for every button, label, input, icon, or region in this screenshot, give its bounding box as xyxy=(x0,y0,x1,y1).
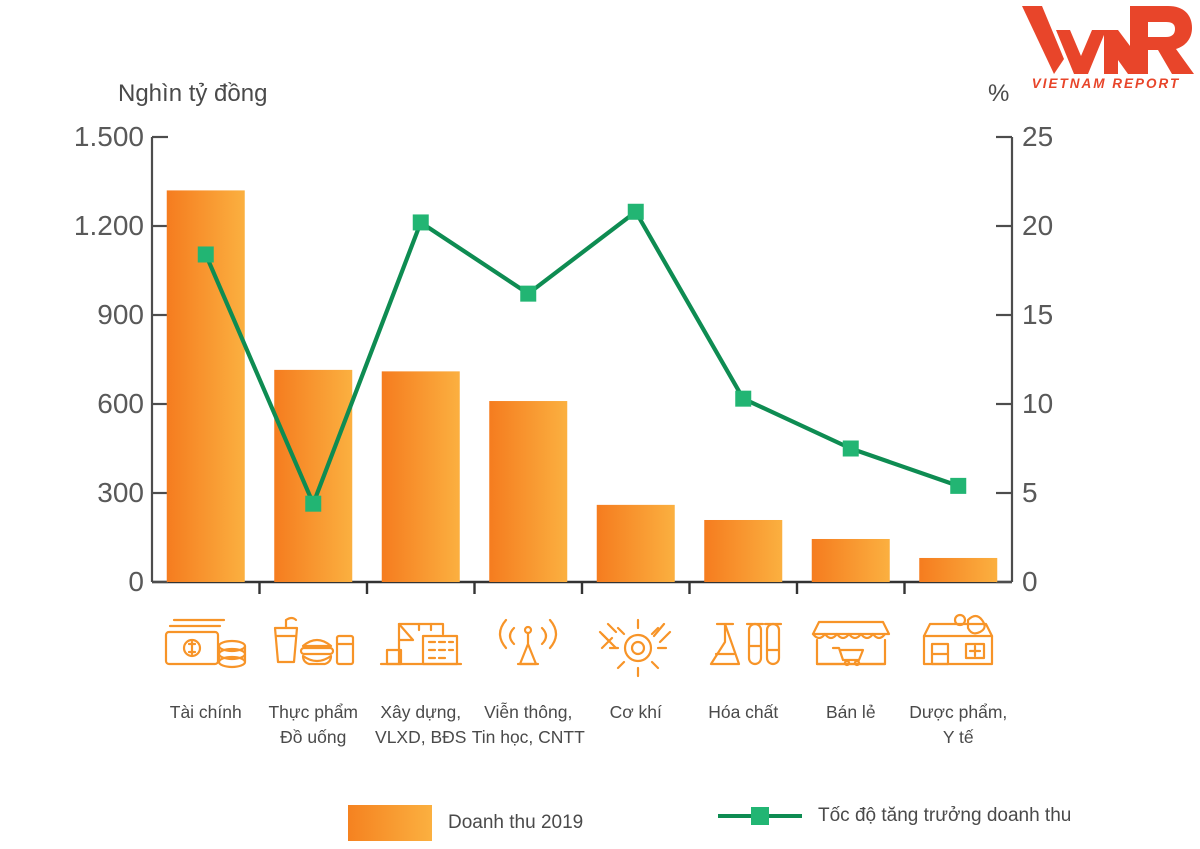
line-marker[interactable] xyxy=(628,204,644,220)
left-axis-tick-label: 900 xyxy=(97,299,144,331)
left-axis-tick-label: 0 xyxy=(128,566,144,598)
bar[interactable] xyxy=(274,370,352,582)
pharmacy-medicine-store-icon xyxy=(910,604,1006,684)
bar-series xyxy=(167,190,998,582)
line-marker[interactable] xyxy=(198,246,214,262)
bar[interactable] xyxy=(812,539,890,582)
money-cash-coins-icon xyxy=(158,604,254,684)
bar[interactable] xyxy=(489,401,567,582)
left-axis-tick-label: 1.200 xyxy=(74,210,144,242)
chemical-flask-tubes-icon xyxy=(695,604,791,684)
legend-bar-label: Doanh thu 2019 xyxy=(448,812,583,834)
category-label-line: Y tế xyxy=(892,725,1024,750)
right-axis-tick-label: 10 xyxy=(1022,388,1053,420)
line-marker[interactable] xyxy=(520,286,536,302)
right-axis-tick-label: 25 xyxy=(1022,121,1053,153)
line-marker[interactable] xyxy=(735,391,751,407)
category-label-line: Dược phẩm, xyxy=(892,700,1024,725)
bar[interactable] xyxy=(919,558,997,582)
legend-line-label: Tốc độ tăng trưởng doanh thu xyxy=(818,805,1071,827)
legend-item-growth[interactable]: Tốc độ tăng trưởng doanh thu xyxy=(718,805,1071,827)
left-axis-tick-label: 1.500 xyxy=(74,121,144,153)
legend-bar-swatch xyxy=(348,805,432,841)
right-axis-tick-label: 15 xyxy=(1022,299,1053,331)
chart-legend: Doanh thu 2019 Tốc độ tăng trưởng doanh … xyxy=(0,805,1200,845)
line-marker[interactable] xyxy=(950,478,966,494)
telecom-antenna-signal-icon xyxy=(480,604,576,684)
legend-line-swatch xyxy=(718,811,802,821)
food-burger-drink-icon xyxy=(265,604,361,684)
mechanical-gear-tools-icon xyxy=(588,604,684,684)
bar[interactable] xyxy=(382,371,460,582)
chart-page: VIETNAM REPORT Nghìn tỷ đồng % 030060090… xyxy=(0,0,1200,849)
construction-crane-building-icon xyxy=(373,604,469,684)
left-axis-tick-label: 300 xyxy=(97,477,144,509)
right-axis-tick-label: 5 xyxy=(1022,477,1038,509)
category-label: Dược phẩm,Y tế xyxy=(892,700,1024,750)
left-axis-tick-label: 600 xyxy=(97,388,144,420)
right-axis-tick-label: 0 xyxy=(1022,566,1038,598)
category-label-line: Tin học, CNTT xyxy=(462,725,594,750)
retail-shop-cart-icon xyxy=(803,604,899,684)
bar[interactable] xyxy=(597,505,675,582)
bar[interactable] xyxy=(704,520,782,582)
line-marker[interactable] xyxy=(843,441,859,457)
line-marker[interactable] xyxy=(305,496,321,512)
right-axis-tick-label: 20 xyxy=(1022,210,1053,242)
legend-item-revenue[interactable]: Doanh thu 2019 xyxy=(348,805,583,841)
line-marker[interactable] xyxy=(413,214,429,230)
